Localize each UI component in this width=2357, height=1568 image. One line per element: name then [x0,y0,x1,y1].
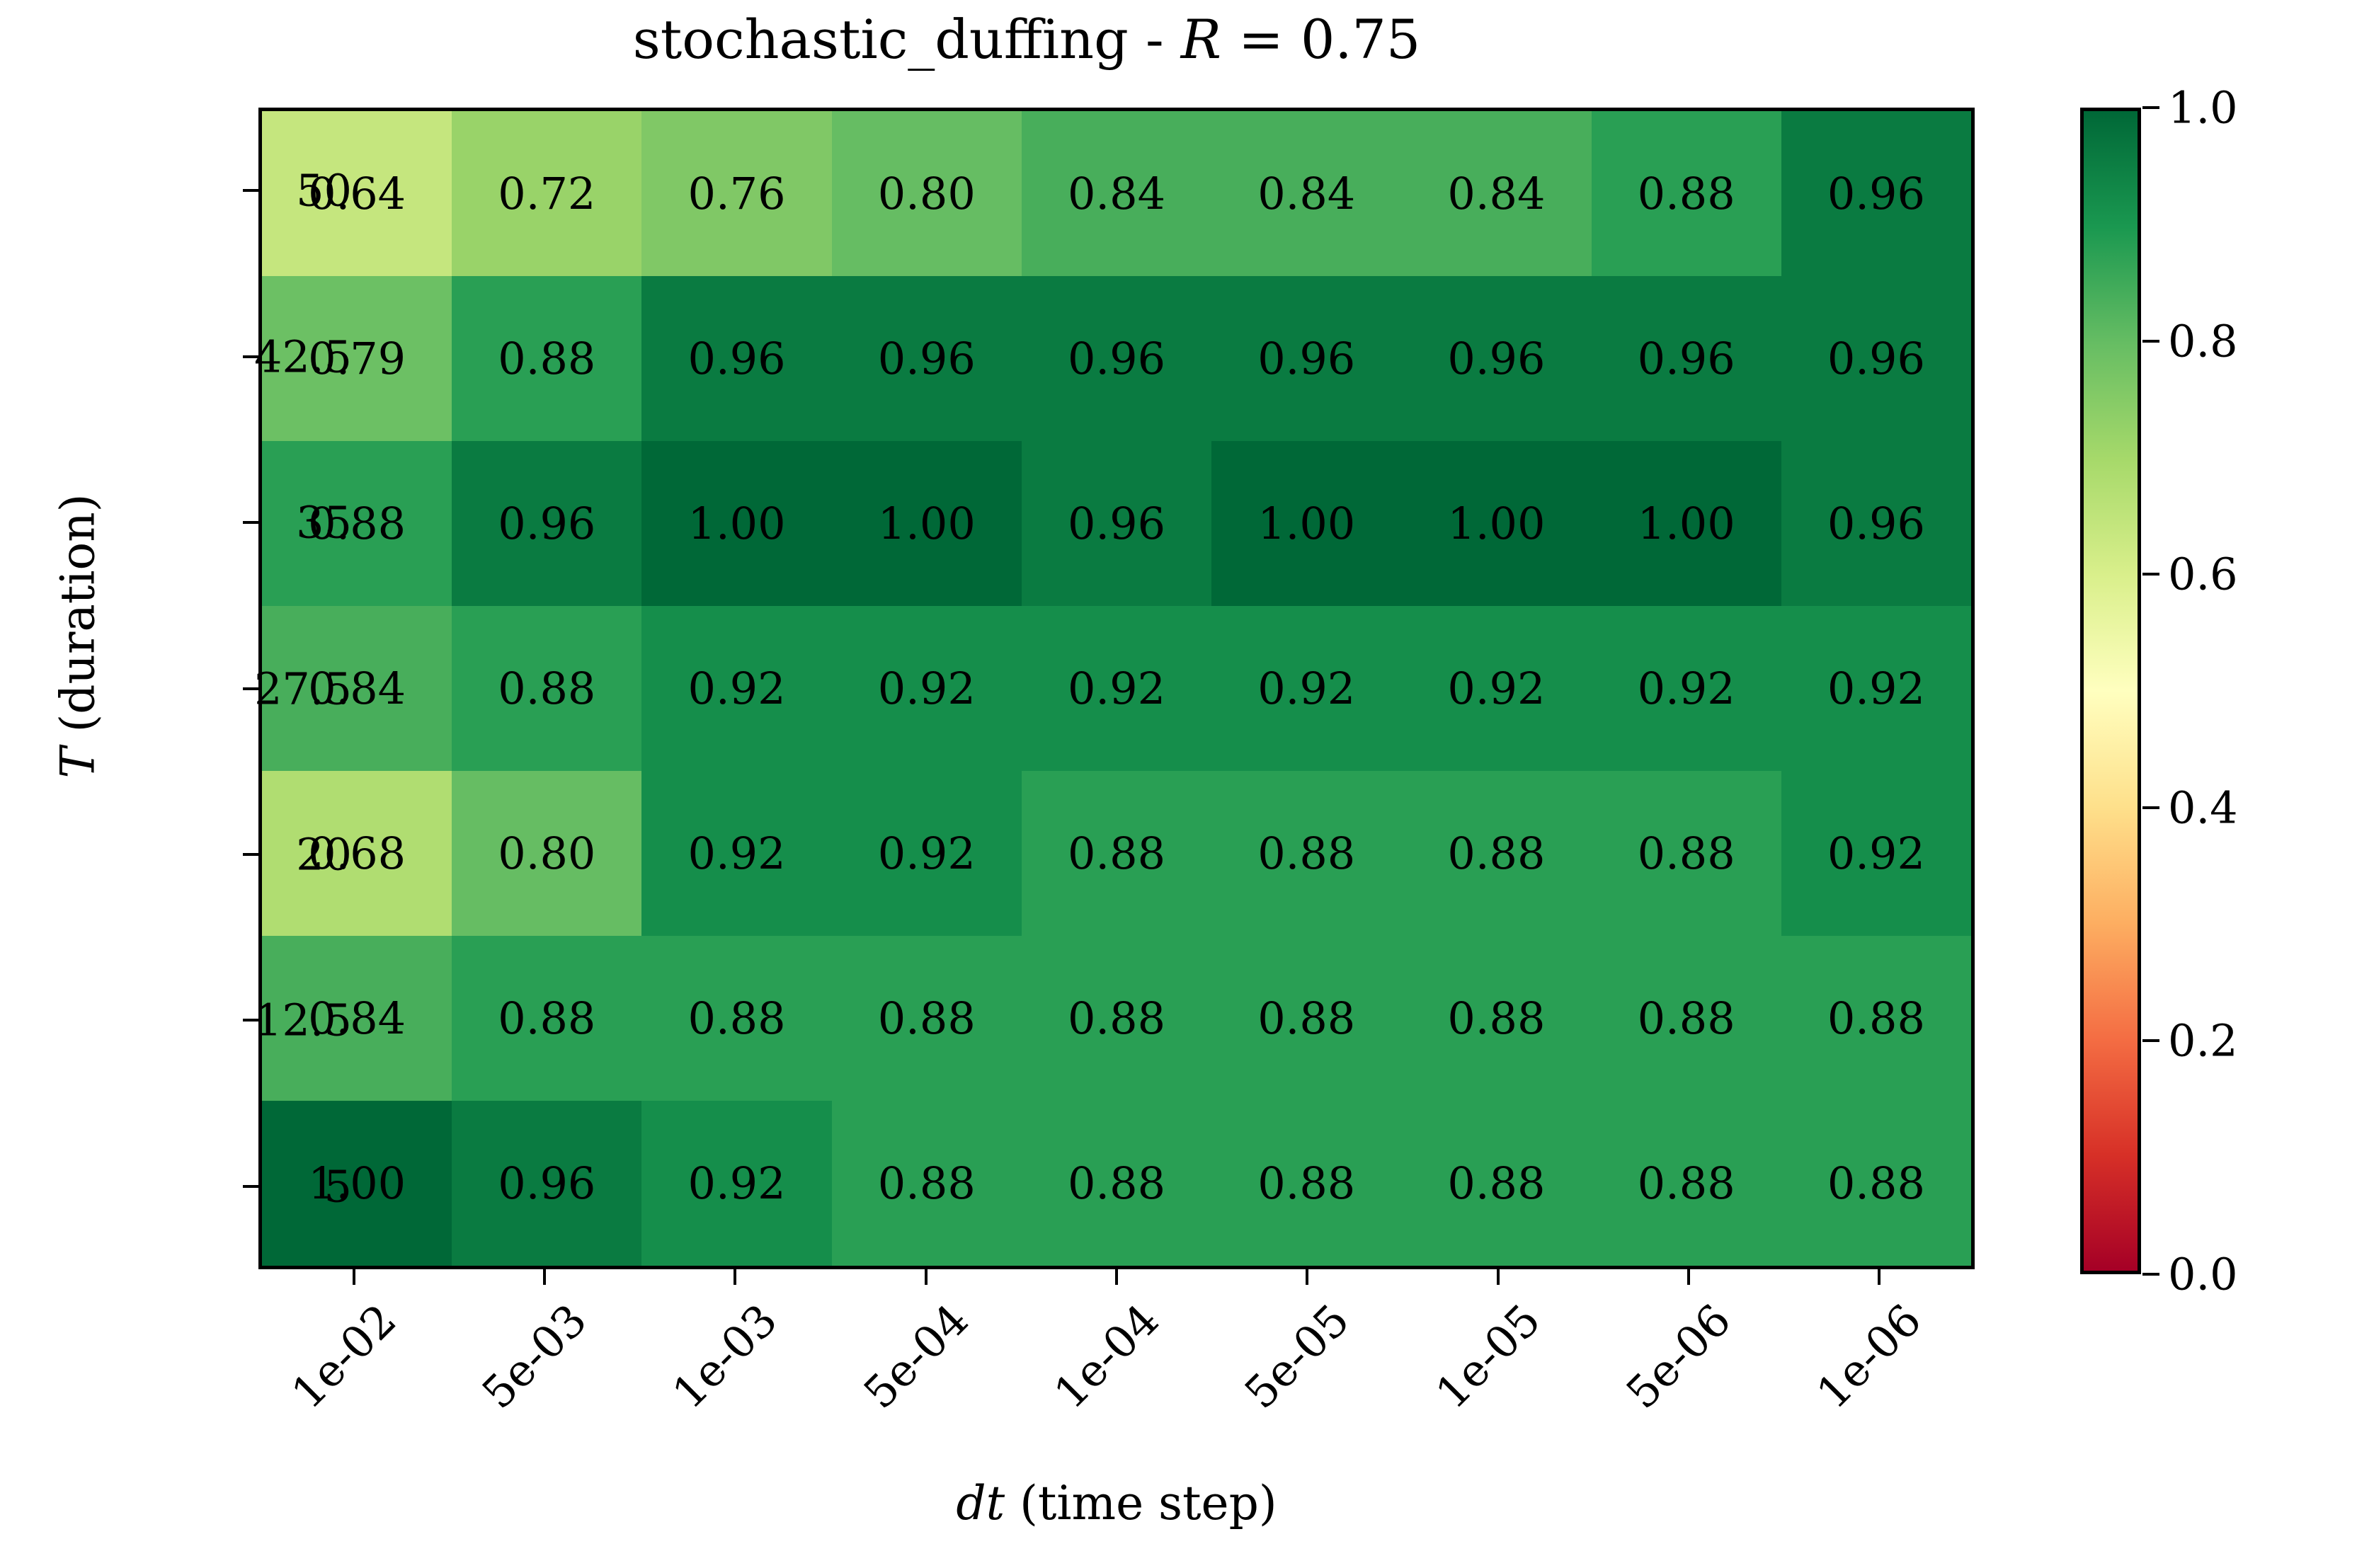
heatmap-cell: 0.88 [1781,1101,1971,1266]
x-axis-tick-label: 5e-05 [1235,1294,1359,1419]
heatmap-cell-value: 0.88 [1068,1162,1165,1206]
x-axis-tick-mark [1115,1269,1118,1285]
heatmap-cell-value: 0.96 [688,337,786,381]
heatmap-cell-value: 0.88 [498,667,595,711]
heatmap-cell: 0.88 [1401,1101,1591,1266]
colorbar-tick-mark [2142,106,2159,109]
colorbar-tick-label: 0.0 [2168,1249,2238,1300]
colorbar-tick-mark [2142,573,2159,576]
x-axis-label-variable: dt [956,1476,1005,1530]
heatmap-cell-value: 0.96 [1447,337,1545,381]
x-axis-tick-label: 1e-04 [1044,1294,1169,1419]
heatmap-cell-value: 0.96 [498,1162,595,1206]
colorbar [2080,108,2141,1274]
heatmap-cell: 0.96 [452,1101,641,1266]
y-axis-tick-label: 50 [0,165,369,217]
chart-title: stochastic_duffing - R = 0.75 [0,13,2053,67]
heatmap-cell-value: 0.88 [1638,997,1735,1041]
heatmap-cell: 1.00 [1401,441,1591,606]
x-axis-label-rest: (time step) [1005,1476,1277,1530]
heatmap-cell-value: 0.88 [1068,997,1165,1041]
x-axis-tick-mark [1497,1269,1500,1285]
y-axis-tick-label: 20 [0,828,369,880]
heatmap-cell-value: 0.84 [1068,172,1165,216]
heatmap-cell-value: 0.84 [1447,172,1545,216]
heatmap-cell: 0.88 [641,936,831,1101]
heatmap-cell: 0.96 [1401,276,1591,441]
heatmap-cell: 0.92 [832,771,1022,936]
heatmap-cell: 1.00 [1592,441,1781,606]
x-axis-tick-mark [353,1269,355,1285]
heatmap-cell-value: 0.92 [688,1162,786,1206]
heatmap-cell-value: 0.88 [1827,997,1925,1041]
heatmap-cell: 0.80 [832,111,1022,276]
heatmap-cell-value: 0.88 [688,997,786,1041]
heatmap-cell: 0.92 [641,606,831,771]
heatmap-cell: 0.88 [1401,936,1591,1101]
colorbar-tick-label: 0.6 [2168,549,2238,600]
x-axis-tick-label: 1e-02 [281,1294,406,1419]
heatmap-cell-value: 0.88 [1447,832,1545,876]
heatmap-cell: 0.76 [641,111,831,276]
heatmap-cell-value: 0.96 [1068,337,1165,381]
heatmap-cell: 0.92 [1781,771,1971,936]
heatmap-cell-value: 1.00 [1257,502,1355,546]
heatmap-cell: 0.88 [452,276,641,441]
y-axis-tick-label: 27.5 [0,663,369,714]
heatmap-cell-value: 0.92 [1257,667,1355,711]
heatmap-cell-value: 1.00 [688,502,786,546]
heatmap-cell-value: 0.88 [1827,1162,1925,1206]
heatmap-cell: 0.92 [641,1101,831,1266]
heatmap-cell-value: 1.00 [1638,502,1735,546]
colorbar-tick-label: 0.4 [2168,782,2238,833]
heatmap-cell: 1.00 [641,441,831,606]
heatmap-cell-value: 1.00 [878,502,976,546]
x-axis-tick-label: 5e-06 [1616,1294,1741,1419]
heatmap-cell-value: 0.84 [1257,172,1355,216]
heatmap-cell-value: 0.92 [1827,667,1925,711]
heatmap-figure: stochastic_duffing - R = 0.75 T (duratio… [0,0,2357,1568]
heatmap-cell: 0.96 [1592,276,1781,441]
x-axis-label: dt (time step) [258,1476,1975,1530]
y-axis-tick-mark [243,687,258,690]
heatmap-cell: 0.96 [1781,111,1971,276]
colorbar-tick-mark [2142,340,2159,343]
heatmap-cell: 0.92 [832,606,1022,771]
heatmap-cell-value: 0.88 [1638,1162,1735,1206]
x-axis-tick-mark [543,1269,546,1285]
heatmap-cell: 0.96 [1781,441,1971,606]
colorbar-tick-mark [2142,806,2159,809]
heatmap-cell-value: 1.00 [1447,502,1545,546]
colorbar-tick-label: 0.2 [2168,1015,2238,1067]
heatmap-cell: 0.96 [832,276,1022,441]
heatmap-cell-value: 0.96 [498,502,595,546]
heatmap-cell: 0.88 [1211,1101,1401,1266]
heatmap-cell: 0.96 [1781,276,1971,441]
heatmap-cell-value: 0.92 [688,667,786,711]
heatmap-cell: 0.88 [1592,771,1781,936]
colorbar-tick-mark [2142,1273,2159,1276]
heatmap-cell: 0.88 [1211,771,1401,936]
heatmap-plot-area: 0.640.720.760.800.840.840.840.880.960.79… [258,108,1975,1269]
heatmap-cell: 0.88 [452,606,641,771]
heatmap-cell-value: 0.88 [498,997,595,1041]
heatmap-cell-value: 0.96 [1068,502,1165,546]
heatmap-cell: 0.88 [1022,936,1211,1101]
y-axis-tick-label: 5 [0,1160,369,1212]
heatmap-cell-value: 0.88 [1638,172,1735,216]
y-axis-tick-mark [243,1019,258,1022]
x-axis-tick-mark [925,1269,928,1285]
x-axis-tick-mark [1687,1269,1690,1285]
heatmap-cell: 0.84 [1211,111,1401,276]
heatmap-cell-value: 0.96 [878,337,976,381]
heatmap-cell: 0.88 [452,936,641,1101]
heatmap-cell-value: 0.92 [878,832,976,876]
heatmap-cell-value: 0.88 [1638,832,1735,876]
heatmap-cell-value: 0.96 [1827,337,1925,381]
title-name: stochastic_duffing - [633,8,1181,71]
colorbar-tick-label: 0.8 [2168,315,2238,367]
heatmap-cell-value: 0.88 [1447,997,1545,1041]
heatmap-cell-value: 0.88 [1068,832,1165,876]
heatmap-cell-value: 0.96 [1827,172,1925,216]
title-variable: R [1181,8,1221,71]
heatmap-cell: 0.88 [1022,771,1211,936]
heatmap-cell-value: 0.88 [878,1162,976,1206]
x-axis-tick-label: 1e-06 [1807,1294,1931,1419]
heatmap-cell: 0.88 [1592,1101,1781,1266]
heatmap-cell-value: 0.88 [1257,997,1355,1041]
x-axis-tick-mark [1306,1269,1308,1285]
heatmap-cell: 0.88 [1211,936,1401,1101]
heatmap-cell-value: 0.92 [688,832,786,876]
heatmap-cell-value: 0.88 [1257,832,1355,876]
heatmap-cell-value: 0.88 [1257,1162,1355,1206]
heatmap-cell-value: 0.80 [878,172,976,216]
heatmap-cell: 0.88 [1401,771,1591,936]
heatmap-cell: 0.92 [1211,606,1401,771]
heatmap-cell-value: 0.88 [498,337,595,381]
y-axis-tick-label: 35 [0,497,369,549]
heatmap-cell: 0.88 [1592,936,1781,1101]
colorbar-tick-label: 1.0 [2168,82,2238,134]
heatmap-cell: 0.92 [1592,606,1781,771]
heatmap-grid: 0.640.720.760.800.840.840.840.880.960.79… [262,111,1971,1266]
heatmap-cell: 0.88 [1592,111,1781,276]
heatmap-cell-value: 0.92 [1068,667,1165,711]
y-axis-tick-mark [243,521,258,524]
heatmap-cell-value: 0.76 [688,172,786,216]
x-axis-tick-label: 1e-03 [663,1294,787,1419]
y-axis-tick-label: 42.5 [0,331,369,382]
heatmap-cell: 1.00 [1211,441,1401,606]
heatmap-cell: 0.72 [452,111,641,276]
heatmap-cell: 0.92 [1022,606,1211,771]
x-axis-tick-label: 5e-04 [853,1294,978,1419]
heatmap-cell: 0.92 [1781,606,1971,771]
heatmap-cell: 0.96 [641,276,831,441]
y-axis-tick-mark [243,853,258,856]
heatmap-cell: 0.88 [1781,936,1971,1101]
heatmap-cell-value: 0.80 [498,832,595,876]
y-axis-tick-mark [243,1185,258,1188]
heatmap-cell: 0.84 [1401,111,1591,276]
y-axis-label-variable: T [51,748,105,779]
heatmap-cell: 1.00 [832,441,1022,606]
heatmap-cell: 0.84 [1022,111,1211,276]
heatmap-cell: 0.88 [832,1101,1022,1266]
colorbar-tick-mark [2142,1039,2159,1042]
x-axis-tick-label: 1e-05 [1425,1294,1550,1419]
heatmap-cell: 0.92 [1401,606,1591,771]
x-axis-tick-mark [734,1269,736,1285]
heatmap-cell: 0.96 [452,441,641,606]
heatmap-cell-value: 0.88 [1447,1162,1545,1206]
colorbar-label: Accuracy [2352,365,2357,1072]
heatmap-cell-value: 0.92 [1447,667,1545,711]
heatmap-cell: 0.92 [641,771,831,936]
heatmap-cell: 0.96 [1022,441,1211,606]
heatmap-cell: 0.96 [1022,276,1211,441]
heatmap-cell: 0.88 [832,936,1022,1101]
x-axis-tick-mark [1878,1269,1881,1285]
heatmap-cell-value: 0.92 [878,667,976,711]
heatmap-cell-value: 0.96 [1827,502,1925,546]
heatmap-cell-value: 0.96 [1638,337,1735,381]
heatmap-cell-value: 0.92 [1638,667,1735,711]
x-axis-tick-label: 5e-03 [472,1294,597,1419]
heatmap-cell-value: 0.96 [1257,337,1355,381]
heatmap-cell-value: 0.92 [1827,832,1925,876]
y-axis-tick-label: 12.5 [0,995,369,1046]
title-value: = 0.75 [1221,8,1420,71]
y-axis-tick-mark [243,189,258,192]
heatmap-cell-value: 0.72 [498,172,595,216]
heatmap-cell: 0.80 [452,771,641,936]
heatmap-cell: 0.96 [1211,276,1401,441]
heatmap-cell-value: 0.88 [878,997,976,1041]
heatmap-cell: 0.88 [1022,1101,1211,1266]
y-axis-tick-mark [243,355,258,358]
